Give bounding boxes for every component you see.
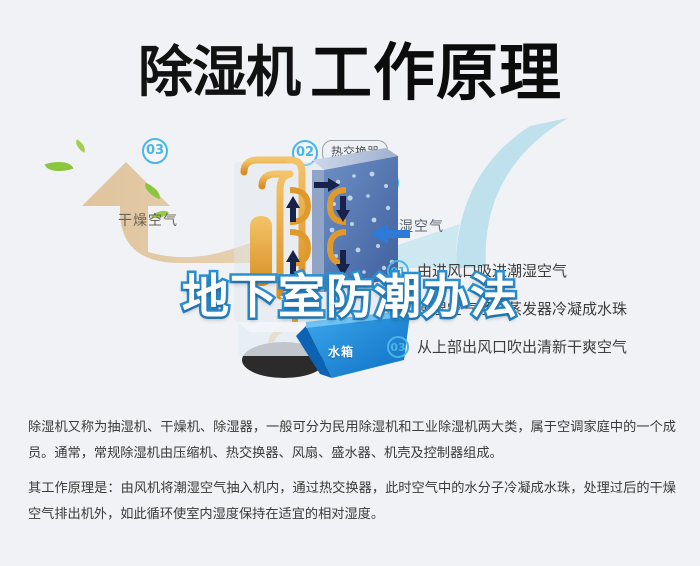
dry-air-label: 干燥空气 <box>118 210 178 230</box>
page-title-part2: 工作原理 <box>310 36 562 109</box>
diagram-badge-03: 03 <box>142 138 168 164</box>
step-item-03: 03 从上部出风口吹出清新干爽空气 <box>387 334 687 372</box>
overlay-watermark-title: 地下室防潮办法 <box>0 258 700 327</box>
step-text-03: 从上部出风口吹出清新干爽空气 <box>417 336 627 357</box>
water-tank-label: 水箱 <box>328 343 354 360</box>
body-paragraph-2: 其工作原理是：由风机将潮湿空气抽入机内，通过热交换器，此时空气中的水分子冷凝成水… <box>28 476 676 528</box>
infographic-page: 除湿机工作原理 03 干燥空气 01 潮湿空气 02 热交换器 <box>0 0 700 566</box>
step-badge-03: 03 <box>387 336 409 358</box>
body-paragraph-1: 除湿机又称为抽湿机、干燥机、除湿器，一般可分为民用除湿机和工业除湿机两大类，属于… <box>28 415 676 467</box>
page-title: 除湿机工作原理 <box>0 22 700 112</box>
page-title-part1: 除湿机 <box>138 40 300 104</box>
body-copy: 除湿机又称为抽湿机、干燥机、除湿器，一般可分为民用除湿机和工业除湿机两大类，属于… <box>28 415 676 528</box>
